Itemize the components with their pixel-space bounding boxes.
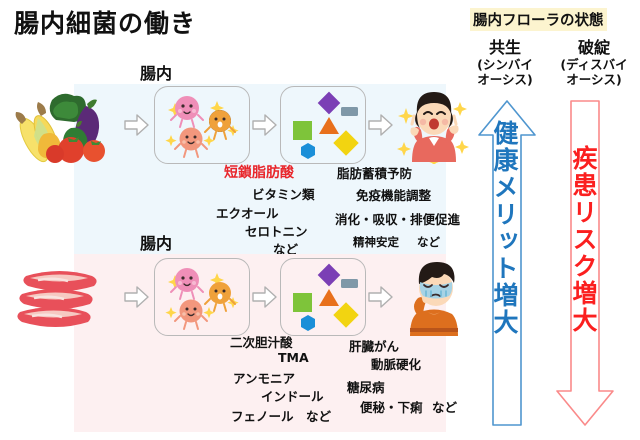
- effect-bottom-2: 糖尿病: [347, 377, 385, 396]
- flow-arrow-1-bottom: [124, 284, 148, 310]
- symbiosis-sub-line2: オーシス): [466, 73, 544, 88]
- page-title: 腸内細菌の働き: [14, 4, 196, 40]
- metabolite-top-3: セロトニン: [245, 221, 308, 240]
- effect-top-1: 免疫機能調整: [356, 185, 431, 204]
- metabolite-shapes-box-top: [280, 86, 366, 164]
- happy-woman-illustration: [396, 86, 472, 164]
- gut-label-top: 腸内: [140, 60, 172, 84]
- metabolite-top-1: ビタミン類: [252, 184, 315, 203]
- metabolite-bottom-0: 二次胆汁酸: [230, 332, 293, 351]
- effect-top-2: 消化・吸収・排便促進: [335, 209, 460, 228]
- flow-arrow-2-top: [252, 112, 276, 138]
- flow-arrow-2-bottom: [252, 284, 276, 310]
- meat-illustration: [8, 260, 118, 336]
- gut-label-bottom: 腸内: [140, 230, 172, 254]
- metabolite-bottom-1: TMA: [278, 350, 309, 365]
- metabolite-bottom-2: アンモニア: [233, 368, 295, 387]
- gut-bacteria-box-top: [154, 86, 250, 164]
- infographic-canvas: 腸内細菌の働き 腸内: [0, 0, 640, 440]
- symbiosis-sub-line1: (シンバイ: [466, 58, 544, 73]
- metabolite-bottom-3: インドール: [261, 386, 324, 405]
- vegetables-illustration: [8, 88, 118, 164]
- effect-bottom-0: 肝臓がん: [349, 336, 399, 355]
- symbiosis-header: 共生 (シンバイ オーシス): [466, 34, 544, 88]
- metabolite-bottom-4: フェノール など: [231, 406, 331, 425]
- flow-arrow-1-top: [124, 112, 148, 138]
- health-benefit-label: 健康メリット増大: [492, 120, 517, 336]
- effect-top-3: 精神安定: [353, 234, 399, 250]
- effect-bottom-4: など: [432, 397, 457, 416]
- symbiosis-head-label: 共生: [466, 34, 544, 58]
- dysbiosis-sub-line1: (ディスバイ: [552, 58, 636, 73]
- effect-bottom-3: 便秘・下痢: [360, 397, 423, 416]
- effect-top-4: など: [417, 234, 440, 250]
- effect-bottom-1: 動脈硬化: [371, 354, 421, 373]
- gut-bacteria-box-bottom: [154, 258, 250, 336]
- metabolite-top-0: 短鎖脂肪酸: [224, 162, 294, 182]
- dysbiosis-head-label: 破綻: [552, 34, 636, 58]
- metabolite-shapes-box-bottom: [280, 258, 366, 336]
- disease-risk-label: 疾患リスク増大: [571, 145, 596, 334]
- flora-state-title: 腸内フローラの状態: [470, 8, 607, 31]
- dysbiosis-sub-line2: オーシス): [552, 73, 636, 88]
- flow-row-top: [4, 86, 454, 166]
- dysbiosis-header: 破綻 (ディスバイ オーシス): [552, 34, 636, 88]
- sick-man-illustration: [396, 258, 472, 336]
- flow-arrow-3-bottom: [368, 284, 392, 310]
- flow-row-bottom: [4, 258, 454, 338]
- metabolite-top-2: エクオール: [216, 203, 279, 222]
- flow-arrow-3-top: [368, 112, 392, 138]
- effect-top-0: 脂肪蓄積予防: [337, 163, 412, 182]
